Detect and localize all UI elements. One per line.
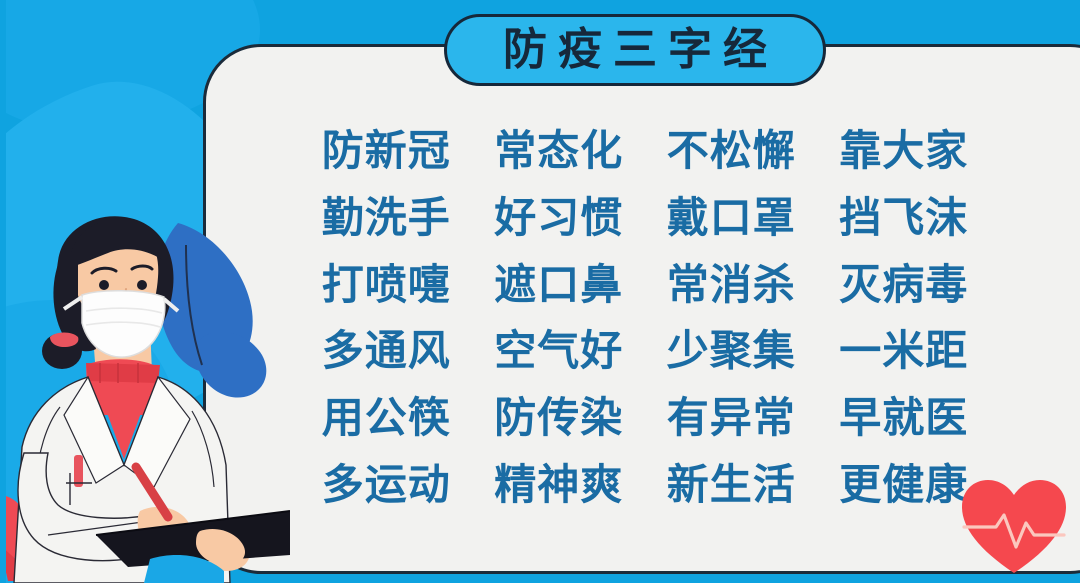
phrase-cell: 用公筷 [300,385,473,452]
phrase-cell: 靠大家 [818,118,991,185]
phrase-cell: 防新冠 [300,118,473,185]
phrase-cell: 有异常 [645,385,818,452]
phrase-cell: 常态化 [473,118,646,185]
phrase-cell: 少聚集 [645,318,818,385]
poster-canvas: 防疫三字经 防新冠 常态化 不松懈 靠大家 勤洗手 好习惯 戴口罩 挡飞沫 打喷… [0,0,1080,583]
phrase-cell: 不松懈 [645,118,818,185]
left-edge-strip [0,0,6,583]
phrase-cell: 勤洗手 [300,185,473,252]
phrase-cell: 常消杀 [645,251,818,318]
phrase-cell: 精神爽 [473,451,646,518]
poster-title-pill: 防疫三字经 [444,14,826,86]
phrase-cell: 遮口鼻 [473,251,646,318]
doctor-illustration [0,215,290,583]
phrase-cell: 防传染 [473,385,646,452]
phrase-cell: 打喷嚏 [300,251,473,318]
phrase-cell: 挡飞沫 [818,185,991,252]
phrase-cell: 灭病毒 [818,251,991,318]
page-title: 防疫三字经 [492,28,778,72]
eye-right [137,280,147,290]
collar [86,363,160,383]
phrase-cell: 戴口罩 [645,185,818,252]
phrase-cell: 一米距 [818,318,991,385]
phrase-cell: 早就医 [818,385,991,452]
phrase-grid: 防新冠 常态化 不松懈 靠大家 勤洗手 好习惯 戴口罩 挡飞沫 打喷嚏 遮口鼻 … [300,118,990,518]
phrase-cell: 多通风 [300,318,473,385]
eye-left [99,280,109,290]
phrase-cell: 新生活 [645,451,818,518]
leaf-shape [157,223,267,398]
phrase-cell: 空气好 [473,318,646,385]
phrase-cell: 多运动 [300,451,473,518]
phrase-cell: 好习惯 [473,185,646,252]
heart-pulse-icon [958,477,1070,577]
